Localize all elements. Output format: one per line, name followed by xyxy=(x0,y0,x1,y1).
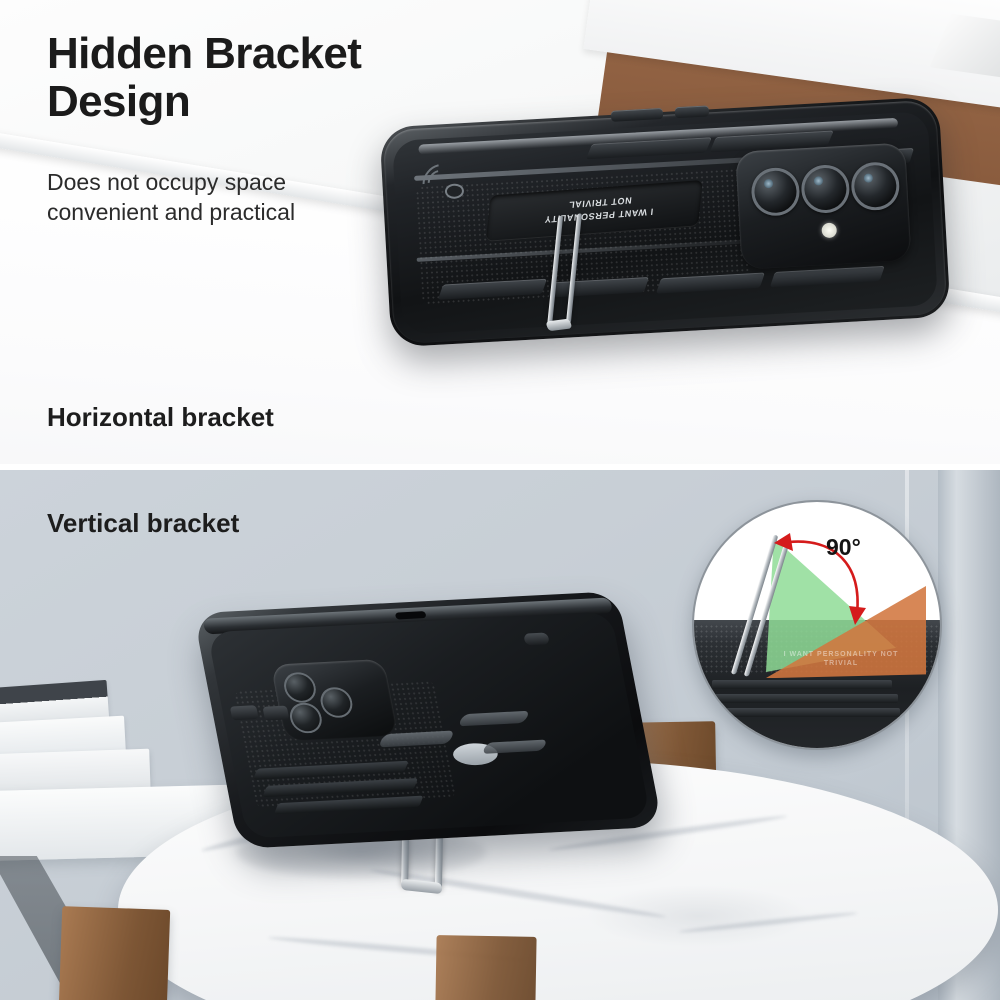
case-engraving: I WANT PERSONALITY NOT TRIVIAL xyxy=(503,188,696,228)
case-slot xyxy=(482,740,548,754)
side-port-cutout xyxy=(523,632,549,645)
power-button-cutout xyxy=(262,706,289,721)
page-subtitle: Does not occupy space convenient and pra… xyxy=(47,168,295,228)
camera-module xyxy=(735,142,911,269)
detail-inset-circle: I WANT PERSONALITY NOT TRIVIAL 90° xyxy=(692,500,942,750)
subhead-line-1: Does not occupy space xyxy=(47,168,295,198)
caption-vertical-bracket: Vertical bracket xyxy=(47,508,239,539)
case-rib xyxy=(770,266,885,287)
table-leg xyxy=(435,935,536,1000)
angle-label: 90° xyxy=(826,534,861,561)
headline-line-1: Hidden Bracket xyxy=(47,30,361,78)
top-panel: Hidden Bracket Design Does not occupy sp… xyxy=(0,0,1000,464)
camera-lens xyxy=(750,166,801,217)
caption-horizontal-bracket: Horizontal bracket xyxy=(47,402,274,433)
camera-lens xyxy=(800,164,851,215)
case-slot xyxy=(458,711,530,727)
product-marketing-image: Hidden Bracket Design Does not occupy sp… xyxy=(0,0,1000,1000)
camera-flash xyxy=(821,222,837,238)
volume-button-cutout xyxy=(230,705,259,720)
page-title: Hidden Bracket Design xyxy=(47,30,361,126)
phone-case-horizontal: I WANT PERSONALITY NOT TRIVIAL xyxy=(379,97,950,348)
table-leg xyxy=(58,906,170,1000)
case-back-plate xyxy=(207,611,650,838)
camera-lens xyxy=(318,686,355,718)
subhead-line-2: convenient and practical xyxy=(47,198,295,228)
camera-module xyxy=(271,659,399,741)
headline-line-2: Design xyxy=(47,78,361,126)
power-button-cutout xyxy=(675,105,710,118)
marble-vein xyxy=(678,911,858,935)
case-back-plate: I WANT PERSONALITY NOT TRIVIAL xyxy=(392,111,938,335)
phone-case-vertical xyxy=(193,591,662,849)
panel-divider xyxy=(0,464,1000,470)
camera-lens xyxy=(287,702,324,734)
rotation-arrow-icon xyxy=(694,502,942,750)
camera-lens xyxy=(850,161,901,212)
camera-lens xyxy=(281,672,318,704)
